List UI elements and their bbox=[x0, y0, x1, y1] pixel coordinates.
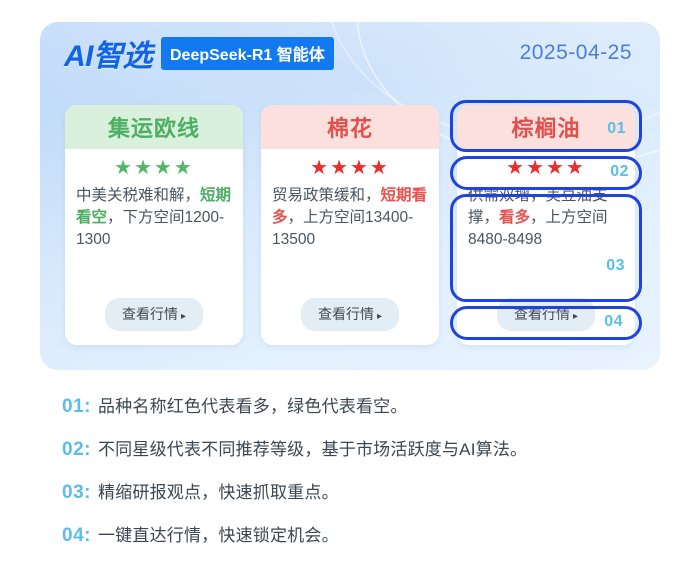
legend-item: 04: 一键直达行情，快速锁定机会。 bbox=[62, 521, 682, 547]
card-summary: 供需双增，美豆油支撑，看多，上方空间8480-8498 bbox=[457, 180, 635, 251]
commodity-card[interactable]: 棉花 ★★★★ 贸易政策缓和，短期看多，上方空间13400-13500 查看行情… bbox=[261, 105, 439, 345]
legend-item: 02: 不同星级代表不同推荐等级，基于市场活跃度与AI算法。 bbox=[62, 435, 682, 461]
legend-number: 03: bbox=[62, 482, 91, 504]
legend-text: 不同星级代表不同推荐等级，基于市场活跃度与AI算法。 bbox=[98, 435, 527, 460]
annotation-number-03: 03 bbox=[606, 257, 625, 275]
card-title: 集运欧线 bbox=[65, 105, 243, 149]
view-quotes-label: 查看行情 bbox=[318, 306, 374, 322]
legend-number: 01: bbox=[62, 396, 91, 418]
annotation-number-04: 04 bbox=[604, 313, 623, 331]
legend-text: 品种名称红色代表看多，绿色代表看空。 bbox=[98, 392, 408, 417]
legend-item: 01: 品种名称红色代表看多，绿色代表看空。 bbox=[62, 392, 682, 418]
ai-insight-panel: AI智选 DeepSeek-R1 智能体 2025-04-25 集运欧线 ★★★… bbox=[40, 22, 660, 370]
view-quotes-button[interactable]: 查看行情▸ bbox=[105, 298, 203, 331]
panel-header: AI智选 DeepSeek-R1 智能体 2025-04-25 bbox=[40, 22, 660, 84]
brand-logo: AI智选 bbox=[64, 31, 152, 75]
commodity-card[interactable]: 棕榈油 ★★★★ 供需双增，美豆油支撑，看多，上方空间8480-8498 查看行… bbox=[457, 105, 635, 345]
annotation-number-01: 01 bbox=[607, 120, 626, 138]
summary-pre: 中美关税难和解， bbox=[76, 187, 200, 204]
legend-number: 04: bbox=[62, 525, 91, 547]
legend-list: 01: 品种名称红色代表看多，绿色代表看空。 02: 不同星级代表不同推荐等级，… bbox=[62, 392, 682, 564]
arrow-right-icon: ▸ bbox=[181, 311, 186, 322]
card-action-area: 查看行情▸ bbox=[261, 298, 439, 331]
arrow-right-icon: ▸ bbox=[377, 311, 382, 322]
commodity-card-list: 集运欧线 ★★★★ 中美关税难和解，短期看空，下方空间1200-1300 查看行… bbox=[65, 105, 635, 345]
annotation-number-02: 02 bbox=[610, 163, 629, 181]
view-quotes-button[interactable]: 查看行情▸ bbox=[301, 298, 399, 331]
legend-number: 02: bbox=[62, 439, 91, 461]
rating-stars: ★★★★ bbox=[65, 158, 243, 180]
legend-text: 一键直达行情，快速锁定机会。 bbox=[98, 521, 339, 546]
commodity-card[interactable]: 集运欧线 ★★★★ 中美关税难和解，短期看空，下方空间1200-1300 查看行… bbox=[65, 105, 243, 345]
card-summary: 中美关税难和解，短期看空，下方空间1200-1300 bbox=[65, 180, 243, 251]
model-badge: DeepSeek-R1 智能体 bbox=[161, 37, 334, 70]
view-quotes-button[interactable]: 查看行情▸ bbox=[497, 298, 595, 331]
arrow-right-icon: ▸ bbox=[573, 311, 578, 322]
rating-stars: ★★★★ bbox=[261, 158, 439, 180]
card-action-area: 查看行情▸ bbox=[65, 298, 243, 331]
summary-pre: 贸易政策缓和， bbox=[272, 187, 381, 204]
summary-post: ，上方空间13400-13500 bbox=[272, 209, 413, 248]
report-date: 2025-04-25 bbox=[520, 41, 632, 65]
rating-stars: ★★★★ bbox=[457, 158, 635, 180]
card-title: 棉花 bbox=[261, 105, 439, 149]
card-summary: 贸易政策缓和，短期看多，上方空间13400-13500 bbox=[261, 180, 439, 251]
legend-item: 03: 精缩研报观点，快速抓取重点。 bbox=[62, 478, 682, 504]
view-quotes-label: 查看行情 bbox=[514, 306, 570, 322]
legend-text: 精缩研报观点，快速抓取重点。 bbox=[98, 478, 339, 503]
view-quotes-label: 查看行情 bbox=[122, 306, 178, 322]
summary-highlight: 看多 bbox=[499, 209, 530, 226]
